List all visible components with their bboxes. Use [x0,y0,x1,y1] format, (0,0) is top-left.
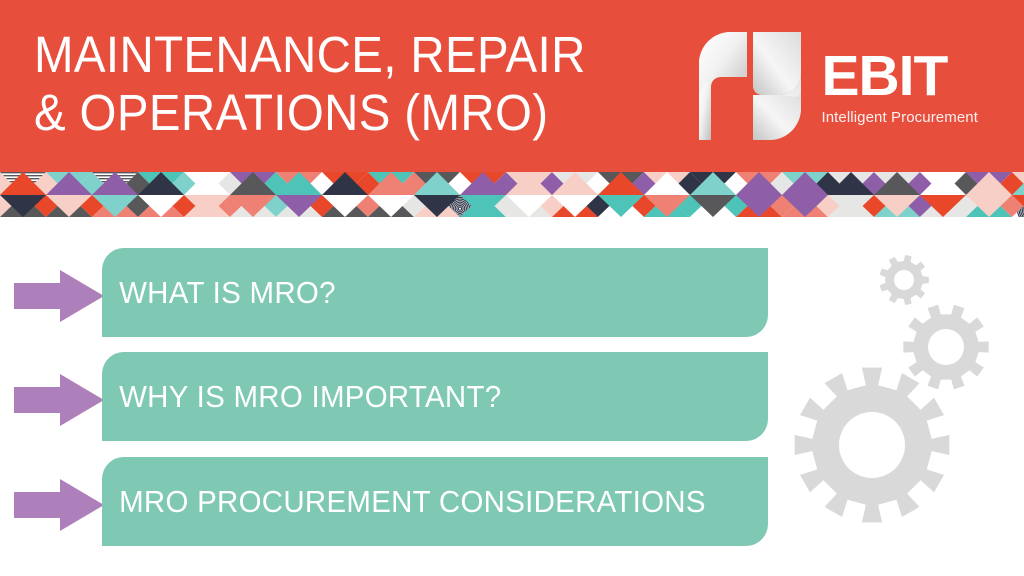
content-bar-label: MRO PROCUREMENT CONSIDERATIONS [102,484,706,520]
triangle-pattern-band [0,172,1024,217]
ebit-logo: EBIT Intelligent Procurement [697,28,978,144]
ebit-logo-text: EBIT Intelligent Procurement [821,44,978,128]
content-bar[interactable]: WHAT IS MRO? [102,248,768,337]
ebit-tagline: Intelligent Procurement [821,108,978,128]
arrow-right-icon [14,479,104,531]
content-bar-label: WHAT IS MRO? [102,275,336,311]
slide-canvas: MAINTENANCE, REPAIR & OPERATIONS (MRO) [0,0,1024,576]
arrow-right-icon [14,374,104,426]
page-title: MAINTENANCE, REPAIR & OPERATIONS (MRO) [34,26,648,142]
content-bar[interactable]: MRO PROCUREMENT CONSIDERATIONS [102,457,768,546]
ebit-logo-mark-icon [697,30,803,142]
arrow-right-icon [14,270,104,322]
content-bar[interactable]: WHY IS MRO IMPORTANT? [102,352,768,441]
slide-header: MAINTENANCE, REPAIR & OPERATIONS (MRO) [0,0,1024,172]
ebit-wordmark: EBIT [821,48,947,104]
content-bar-label: WHY IS MRO IMPORTANT? [102,379,501,415]
